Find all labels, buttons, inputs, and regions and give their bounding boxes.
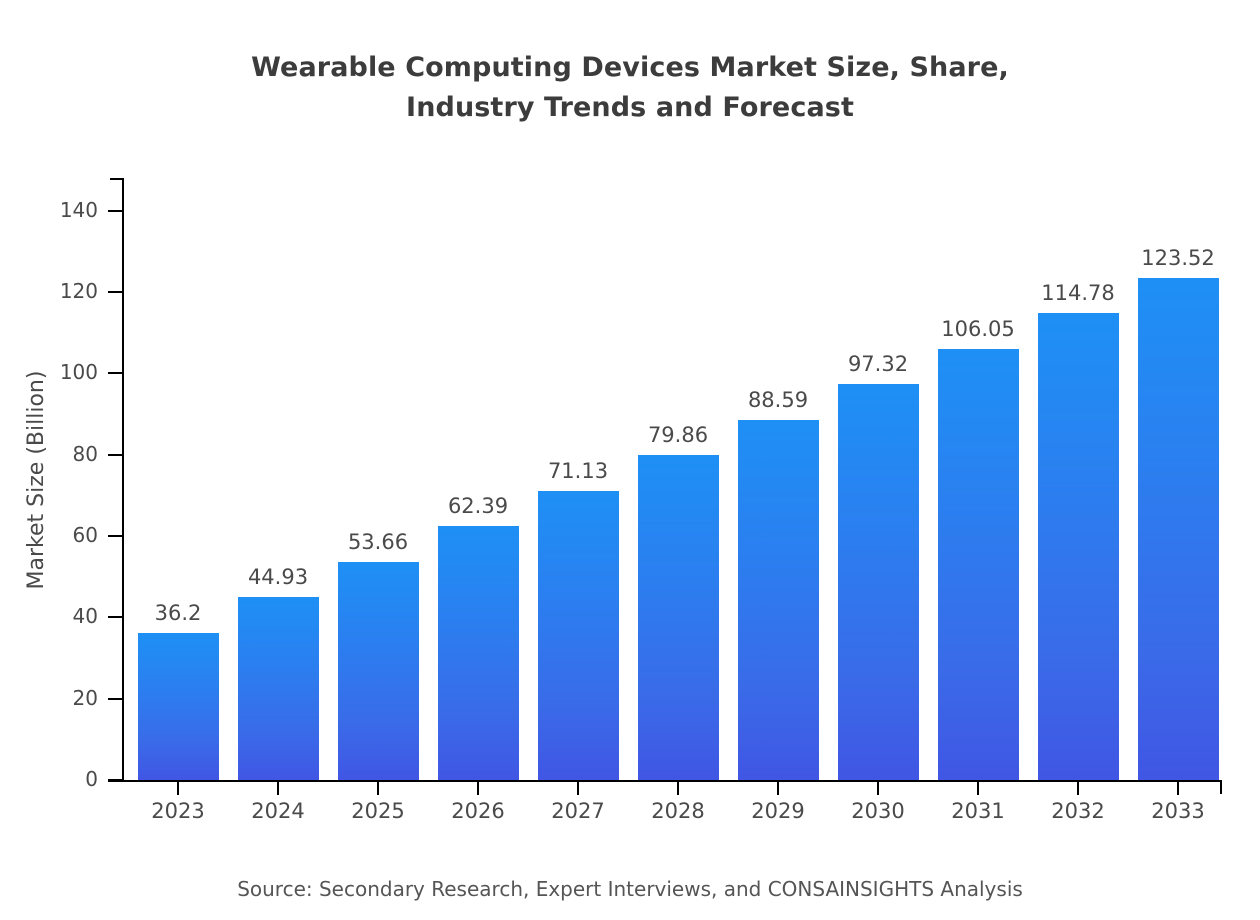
- x-axis-tick: [277, 782, 279, 795]
- x-axis-tick: [877, 782, 879, 795]
- y-axis-tick: [108, 698, 122, 700]
- bar[interactable]: [1138, 278, 1219, 780]
- y-axis-tick-label: 100: [0, 362, 98, 382]
- y-axis-tick-label: 20: [0, 688, 98, 708]
- bar-value-label: 79.86: [608, 423, 748, 447]
- bar[interactable]: [238, 597, 319, 780]
- y-axis-tick: [108, 779, 122, 781]
- bar-value-label: 97.32: [808, 352, 948, 376]
- bar-value-label: 71.13: [508, 459, 648, 483]
- y-axis-tick-label: 40: [0, 606, 98, 626]
- y-axis-tick-label: 0: [0, 769, 98, 789]
- bar-value-label: 114.78: [1008, 281, 1148, 305]
- x-axis-tick: [777, 782, 779, 795]
- bar-value-label: 36.2: [108, 601, 248, 625]
- x-axis-tick: [377, 782, 379, 795]
- bar[interactable]: [1038, 313, 1119, 780]
- bar[interactable]: [638, 455, 719, 780]
- x-axis-tick: [1177, 782, 1179, 795]
- bar[interactable]: [138, 633, 219, 780]
- x-axis-tick: [177, 782, 179, 795]
- y-axis-tick-label: 80: [0, 444, 98, 464]
- y-axis-tick-label: 60: [0, 525, 98, 545]
- source-note: Source: Secondary Research, Expert Inter…: [0, 876, 1260, 902]
- x-axis-tick-label: 2033: [1118, 798, 1238, 824]
- y-axis-tick: [108, 291, 122, 293]
- plot-area: 36.244.9353.6662.3971.1379.8688.5997.321…: [122, 178, 1222, 780]
- x-axis-right-cap: [1220, 780, 1222, 794]
- bar[interactable]: [538, 491, 619, 780]
- bar[interactable]: [838, 384, 919, 780]
- x-axis-tick: [677, 782, 679, 795]
- bar[interactable]: [438, 526, 519, 780]
- chart-figure: Wearable Computing Devices Market Size, …: [0, 0, 1260, 920]
- y-axis-tick: [108, 210, 122, 212]
- y-axis-tick: [108, 535, 122, 537]
- x-axis-tick: [577, 782, 579, 795]
- y-axis-tick-label: 120: [0, 281, 98, 301]
- x-axis-spine: [108, 780, 1222, 782]
- bar[interactable]: [938, 349, 1019, 780]
- y-axis-tick: [108, 454, 122, 456]
- bar-value-label: 123.52: [1108, 246, 1248, 270]
- bar[interactable]: [338, 562, 419, 780]
- bar-value-label: 44.93: [208, 565, 348, 589]
- y-axis-tick: [108, 372, 122, 374]
- y-axis-tick-label: 140: [0, 200, 98, 220]
- bar-value-label: 62.39: [408, 494, 548, 518]
- x-axis-tick: [477, 782, 479, 795]
- bar[interactable]: [738, 420, 819, 780]
- chart-title-line-1: Wearable Computing Devices Market Size, …: [0, 48, 1260, 88]
- page-title: Wearable Computing Devices Market Size, …: [0, 48, 1260, 128]
- x-axis-tick: [977, 782, 979, 795]
- bar-value-label: 53.66: [308, 530, 448, 554]
- chart-title-line-2: Industry Trends and Forecast: [0, 88, 1260, 128]
- x-axis-tick: [1077, 782, 1079, 795]
- bar-value-label: 106.05: [908, 317, 1048, 341]
- bar-value-label: 88.59: [708, 388, 848, 412]
